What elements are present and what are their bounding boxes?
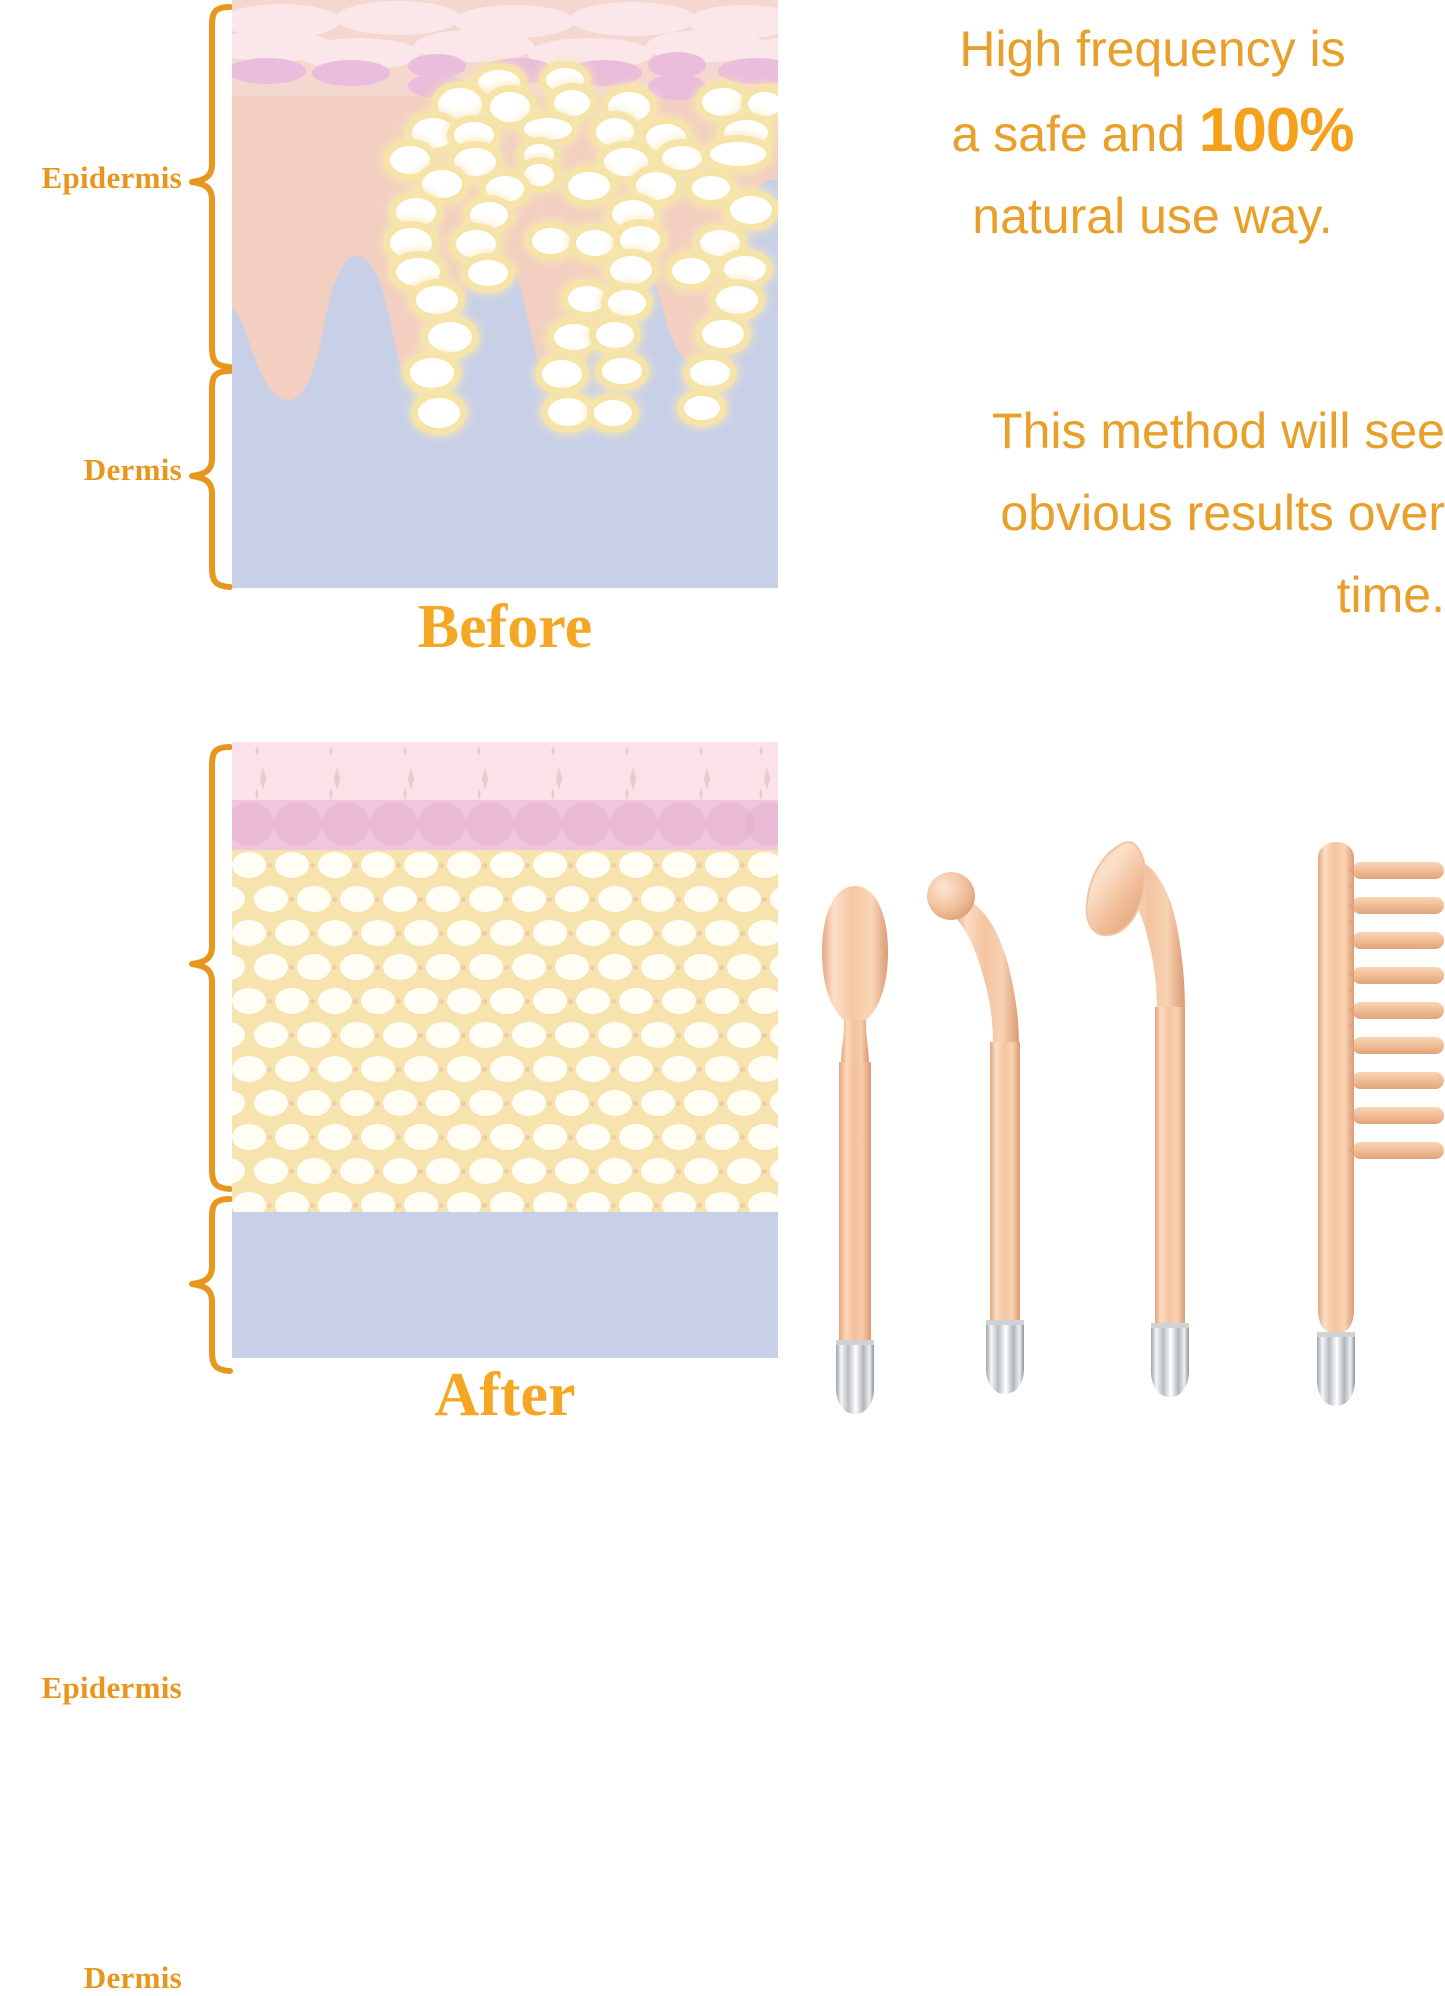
after-skin-panel (232, 742, 778, 1358)
after-cell (318, 852, 352, 878)
after-cell (619, 1056, 653, 1082)
after-cell-speck (375, 965, 380, 970)
after-cell-speck (310, 863, 315, 868)
after-cell (598, 1090, 632, 1116)
after-cell-speck (396, 1203, 401, 1208)
after-cell (361, 852, 395, 878)
before-collagen-cell (604, 148, 648, 176)
after-cell-speck (418, 1033, 423, 1038)
after-cell-speck (740, 931, 745, 936)
after-cell-speck (740, 863, 745, 868)
after-cell (275, 1124, 309, 1150)
after-cell (641, 1158, 675, 1184)
after-cell (598, 1158, 632, 1184)
after-cell-speck (697, 999, 702, 1004)
after-cell-speck (611, 863, 616, 868)
after-cell-speck (762, 1101, 767, 1106)
after-cell-speck (611, 931, 616, 936)
after-cell (361, 920, 395, 946)
after-cell (512, 1090, 546, 1116)
after-cell (619, 1124, 653, 1150)
after-cell-speck (719, 1169, 724, 1174)
after-cell (684, 1090, 718, 1116)
after-cell (705, 920, 739, 946)
after-cell (662, 1056, 696, 1082)
after-cell (254, 1022, 288, 1048)
copy-line: obvious results over (860, 472, 1445, 554)
before-collagen-cell (428, 322, 472, 352)
after-cell-speck (719, 1033, 724, 1038)
after-cell (490, 1124, 524, 1150)
comb-teeth (1352, 862, 1444, 1159)
infographic-canvas: Epidermis Dermis (0, 0, 1445, 1424)
after-cell-speck (719, 965, 724, 970)
after-cell-speck (590, 1169, 595, 1174)
after-cell-speck (762, 897, 767, 902)
after-cell-speck (332, 1169, 337, 1174)
after-cell-speck (740, 1203, 745, 1208)
after-cell-speck (676, 897, 681, 902)
after-cell-speck (676, 1169, 681, 1174)
after-cell-speck (525, 999, 530, 1004)
after-cell-speck (762, 1169, 767, 1174)
after-cell-speck (547, 1169, 552, 1174)
after-cell (598, 886, 632, 912)
after-cell (619, 988, 653, 1014)
before-collagen-cell (546, 68, 584, 92)
copy-emphasis: 100% (1199, 96, 1354, 165)
after-cell (404, 1056, 438, 1082)
after-cell (340, 886, 374, 912)
after-cell (318, 1056, 352, 1082)
after-cell (748, 988, 778, 1014)
after-cell (361, 988, 395, 1014)
copy-line: time. (860, 554, 1445, 636)
after-texture-petal (514, 802, 562, 846)
after-cell-speck (633, 1101, 638, 1106)
after-cell (619, 852, 653, 878)
after-cell-speck (568, 863, 573, 868)
after-cell (684, 886, 718, 912)
before-collagen-cell (524, 118, 572, 140)
after-cell (490, 988, 524, 1014)
before-collagen-cell (390, 146, 430, 174)
after-cell (576, 1192, 610, 1212)
after-cell-speck (762, 965, 767, 970)
after-cell-speck (439, 931, 444, 936)
after-cell-speck (482, 999, 487, 1004)
after-cell (727, 1090, 761, 1116)
after-cell (232, 1022, 245, 1048)
after-cell (512, 1022, 546, 1048)
after-cell (576, 852, 610, 878)
after-cell (770, 1090, 779, 1116)
after-cell-speck (267, 1135, 272, 1140)
after-cell (533, 920, 567, 946)
after-cell-speck (654, 999, 659, 1004)
copy-line: a safe and 100% (860, 90, 1445, 175)
before-basal-cell (648, 74, 706, 100)
after-cell-speck (547, 1101, 552, 1106)
after-cell (512, 886, 546, 912)
after-cell-speck (504, 897, 509, 902)
after-cell (576, 1056, 610, 1082)
after-cell-speck (310, 1135, 315, 1140)
after-cell (555, 886, 589, 912)
after-cell (555, 1090, 589, 1116)
after-cell (555, 954, 589, 980)
after-cell-speck (719, 1101, 724, 1106)
after-cell (447, 1056, 481, 1082)
after-cell (232, 920, 266, 946)
after-cell (297, 1158, 331, 1184)
before-skin-panel (232, 0, 778, 588)
after-cell (340, 1022, 374, 1048)
copy-line: This method will see (860, 390, 1445, 472)
after-cell (490, 1056, 524, 1082)
after-cell-speck (697, 931, 702, 936)
after-cell (340, 1090, 374, 1116)
after-cell-speck (289, 1101, 294, 1106)
before-brace-epidermis (186, 4, 234, 370)
after-cell (641, 1022, 675, 1048)
before-caption: Before (232, 592, 778, 663)
after-texture-petal (274, 802, 322, 846)
after-cell-speck (461, 897, 466, 902)
before-label-dermis: Dermis (0, 452, 182, 488)
after-cell (297, 1022, 331, 1048)
after-cell-speck (267, 999, 272, 1004)
copy-line: High frequency is (860, 8, 1445, 90)
copy-line-text: a safe and (952, 106, 1199, 162)
after-cell-speck (267, 1067, 272, 1072)
after-cell-speck (310, 931, 315, 936)
after-cell (447, 1192, 481, 1212)
after-cell-speck (697, 1067, 702, 1072)
after-brace-epidermis (186, 744, 234, 1192)
before-collagen-cell (748, 92, 778, 116)
after-cell-speck (525, 1135, 530, 1140)
after-cell (684, 954, 718, 980)
after-cell-speck (482, 1135, 487, 1140)
after-cell-speck (654, 1203, 659, 1208)
after-cell (254, 1090, 288, 1116)
before-collagen-cell (662, 146, 702, 170)
wand-bulb-electrode[interactable] (800, 880, 910, 1420)
after-cell (404, 1192, 438, 1212)
after-cell-speck (267, 863, 272, 868)
after-cell-speck (439, 999, 444, 1004)
after-cell (275, 920, 309, 946)
after-cell (512, 1158, 546, 1184)
after-cell (533, 1056, 567, 1082)
after-cell (641, 886, 675, 912)
after-cell-speck (697, 863, 702, 868)
after-cell-speck (289, 897, 294, 902)
after-cell-speck (740, 1067, 745, 1072)
after-cell (383, 1158, 417, 1184)
after-cell-speck (568, 1203, 573, 1208)
after-cell (340, 954, 374, 980)
before-collagen-cell (454, 122, 494, 148)
after-cell (469, 1158, 503, 1184)
after-cell (232, 886, 245, 912)
copy-block-results: This method will see obvious results ove… (860, 390, 1445, 636)
after-cell-speck (654, 863, 659, 868)
after-cell-speck (740, 1135, 745, 1140)
after-texture-petal (418, 802, 466, 846)
after-cell (576, 988, 610, 1014)
after-cell-speck (267, 1203, 272, 1208)
after-cell (662, 852, 696, 878)
after-cell-speck (697, 1135, 702, 1140)
after-cell-speck (482, 931, 487, 936)
after-cell-speck (676, 965, 681, 970)
before-collagen-cell (724, 256, 766, 282)
after-layer-dermis (232, 1212, 778, 1358)
after-cell-speck (504, 1169, 509, 1174)
after-cell (641, 954, 675, 980)
before-collagen-cell (684, 396, 720, 420)
after-cell (770, 1022, 779, 1048)
after-cell-speck (590, 1033, 595, 1038)
after-cell (383, 954, 417, 980)
after-texture-petal (610, 802, 658, 846)
before-collagen-cell (702, 88, 744, 116)
after-cell-speck (525, 1067, 530, 1072)
wand-comb-electrode[interactable] (1300, 840, 1445, 1420)
after-cell-speck (332, 965, 337, 970)
after-cell-speck (654, 1135, 659, 1140)
after-cell-speck (482, 1067, 487, 1072)
after-cell (232, 852, 266, 878)
after-texture-petal (322, 802, 370, 846)
after-cell (619, 920, 653, 946)
after-cell (361, 1056, 395, 1082)
after-cell-speck (332, 897, 337, 902)
after-cell (275, 1192, 309, 1212)
after-cell-speck (289, 1033, 294, 1038)
after-cell (318, 1124, 352, 1150)
after-label-epidermis: Epidermis (0, 1670, 182, 1706)
after-cell (318, 988, 352, 1014)
after-cell-speck (439, 1135, 444, 1140)
after-cell (232, 1192, 266, 1212)
after-cell-speck (332, 1101, 337, 1106)
after-cell-speck (375, 897, 380, 902)
after-cell (533, 1124, 567, 1150)
after-cell-speck (289, 1169, 294, 1174)
copy-block-safety: High frequency is a safe and 100% natura… (860, 8, 1445, 257)
wand-mushroom-electrode[interactable] (1085, 835, 1235, 1420)
after-cell (318, 920, 352, 946)
after-cell (684, 1158, 718, 1184)
after-cell-speck (439, 1067, 444, 1072)
after-cell-speck (504, 965, 509, 970)
after-cell-speck (418, 1101, 423, 1106)
after-cell-speck (633, 1033, 638, 1038)
after-cell-speck (310, 1067, 315, 1072)
after-cell (533, 852, 567, 878)
after-cell-grid (232, 850, 778, 1212)
after-cell-speck (461, 1169, 466, 1174)
before-collagen-cell (568, 286, 606, 312)
after-cell (340, 1158, 374, 1184)
after-cell-speck (676, 1033, 681, 1038)
after-cell (576, 1124, 610, 1150)
after-cell (404, 852, 438, 878)
after-cell-speck (547, 965, 552, 970)
before-collagen-cell (396, 198, 436, 226)
after-label-dermis: Dermis (0, 1960, 182, 1996)
after-cell-speck (547, 1033, 552, 1038)
before-collagen-cell (690, 360, 730, 386)
after-cell-speck (525, 863, 530, 868)
after-cell (469, 1022, 503, 1048)
after-cell (426, 1022, 460, 1048)
after-cell-speck (762, 1033, 767, 1038)
before-collagen-cell (410, 358, 454, 388)
before-collagen-cell (554, 90, 590, 116)
after-cell-speck (396, 1067, 401, 1072)
after-cell (275, 988, 309, 1014)
after-caption: After (232, 1360, 778, 1431)
after-cell-speck (719, 897, 724, 902)
after-cell-speck (461, 1033, 466, 1038)
after-cell (232, 1056, 266, 1082)
after-cell-speck (740, 999, 745, 1004)
after-diagram: Epidermis Dermis (0, 720, 790, 1424)
before-collagen-cell (416, 286, 458, 314)
wand-spot-electrode[interactable] (920, 870, 1060, 1420)
after-cell-speck (353, 1203, 358, 1208)
after-cell-speck (590, 965, 595, 970)
after-cell (770, 1158, 779, 1184)
after-cell-speck (396, 931, 401, 936)
after-cell (705, 1192, 739, 1212)
after-brace-dermis (186, 1196, 234, 1374)
after-cell (297, 1090, 331, 1116)
after-cell-speck (267, 931, 272, 936)
before-collagen-cell (456, 230, 496, 258)
after-cell (275, 1056, 309, 1082)
after-layer-corneum (232, 742, 778, 800)
after-cell (576, 920, 610, 946)
after-cell-speck (568, 1067, 573, 1072)
after-cell (748, 1192, 778, 1212)
after-cell (512, 954, 546, 980)
before-collagen-cell (412, 118, 454, 148)
after-cell (232, 1124, 266, 1150)
after-cell (533, 988, 567, 1014)
after-cell-speck (353, 999, 358, 1004)
after-cell (598, 954, 632, 980)
after-cell-speck (482, 1203, 487, 1208)
after-cell (232, 988, 266, 1014)
after-cell (662, 988, 696, 1014)
after-cell (254, 886, 288, 912)
after-cell (447, 1124, 481, 1150)
before-collagen-cell (548, 398, 588, 426)
after-cell (426, 954, 460, 980)
after-cell (533, 1192, 567, 1212)
after-cell (662, 1124, 696, 1150)
after-cell-speck (611, 1203, 616, 1208)
after-cell-speck (353, 931, 358, 936)
before-collagen-cell (730, 196, 772, 224)
after-cell-speck (418, 897, 423, 902)
before-collagen-cell (672, 258, 710, 284)
before-collagen-cell (486, 176, 524, 202)
after-cell (662, 1192, 696, 1212)
after-cell-speck (568, 999, 573, 1004)
after-texture-petal (466, 802, 514, 846)
before-collagen-cell (596, 118, 634, 146)
after-cell-speck (332, 1033, 337, 1038)
after-cell-speck (611, 1067, 616, 1072)
before-collagen-cell (602, 358, 642, 384)
before-collagen-cell (468, 260, 508, 286)
after-cell-speck (547, 897, 552, 902)
after-cell-speck (611, 1135, 616, 1140)
before-collagen-cell (454, 148, 496, 176)
after-cell (705, 852, 739, 878)
before-collagen-cell (700, 230, 740, 256)
after-cell-speck (439, 863, 444, 868)
after-cell (770, 954, 779, 980)
after-cell-speck (633, 1169, 638, 1174)
after-cell-speck (504, 1033, 509, 1038)
after-cell (490, 852, 524, 878)
before-collagen-cell (542, 360, 582, 388)
after-cell (727, 886, 761, 912)
after-cell (404, 988, 438, 1014)
after-cell (727, 1158, 761, 1184)
before-collagen-cell (532, 228, 570, 254)
after-cell-speck (353, 1135, 358, 1140)
after-cell-speck (590, 1101, 595, 1106)
after-cell (469, 886, 503, 912)
after-cell-speck (418, 1169, 423, 1174)
after-cell-speck (396, 1135, 401, 1140)
after-cell (555, 1158, 589, 1184)
before-collagen-cell (418, 398, 460, 428)
after-cell-speck (310, 999, 315, 1004)
after-texture-petal (658, 802, 706, 846)
before-collagen-cell (596, 322, 634, 348)
after-cell (598, 1022, 632, 1048)
after-cell-speck (289, 965, 294, 970)
after-cell-speck (375, 1033, 380, 1038)
after-cell (426, 886, 460, 912)
before-collagen-cell (422, 170, 462, 198)
after-cell (447, 852, 481, 878)
before-collagen-cell (710, 142, 766, 166)
after-cell (361, 1124, 395, 1150)
before-collagen-cell (390, 228, 432, 258)
after-cell-speck (482, 863, 487, 868)
after-cell-speck (461, 965, 466, 970)
after-cell (662, 920, 696, 946)
after-texture-petal (370, 802, 418, 846)
after-cell (619, 1192, 653, 1212)
after-cell-speck (396, 999, 401, 1004)
after-cell (232, 1158, 245, 1184)
after-cell-speck (697, 1203, 702, 1208)
after-cell-speck (590, 897, 595, 902)
after-cell (748, 920, 778, 946)
before-collagen-cell (438, 88, 482, 122)
